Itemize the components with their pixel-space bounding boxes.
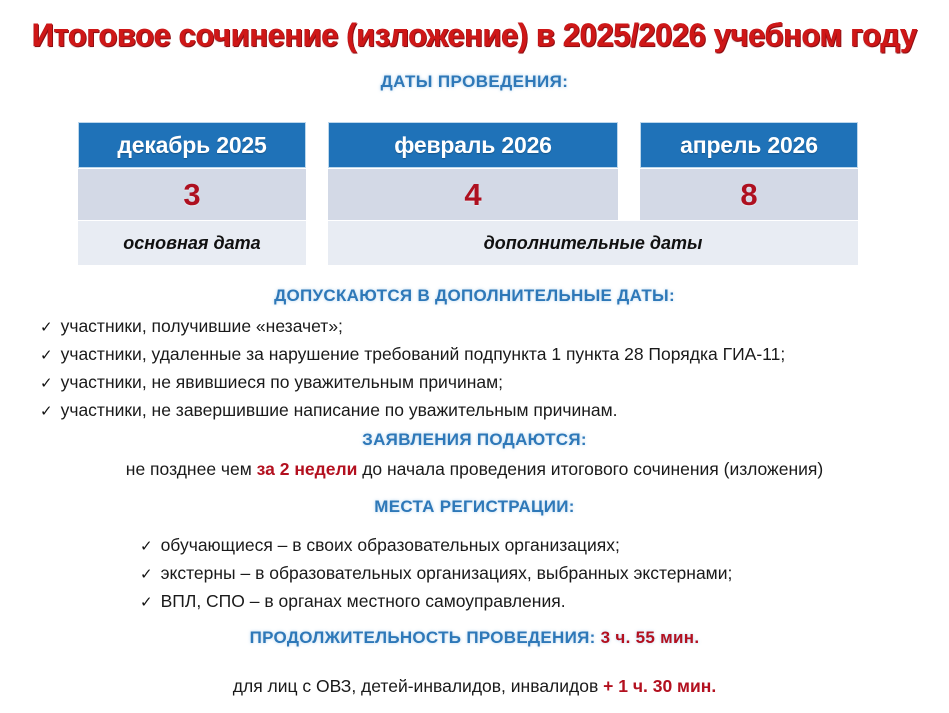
dates-table-label-row: основная дата дополнительные даты [78,221,858,265]
list-item-label: участники, получившие «незачет»; [61,313,343,339]
applications-text-after: до начала проведения итогового сочинения… [357,459,823,479]
list-item: ✓ участники, получившие «незачет»; [40,313,940,341]
applications-accent: за 2 недели [257,459,358,479]
allowed-heading: ДОПУСКАЮТСЯ В ДОПОЛНИТЕЛЬНЫЕ ДАТЫ: [0,286,949,306]
dates-table-day-april: 8 [640,169,858,220]
duration-label: ПРОДОЛЖИТЕЛЬНОСТЬ ПРОВЕДЕНИЯ: [250,628,601,647]
duration-extra-accent: + 1 ч. 30 мин. [603,676,716,696]
list-item: ✓ обучающиеся – в своих образовательных … [140,532,940,560]
list-item: ✓ участники, удаленные за нарушение треб… [40,341,940,369]
check-icon: ✓ [140,590,153,616]
dates-table-label-main: основная дата [78,221,306,265]
check-icon: ✓ [40,371,53,397]
check-icon: ✓ [40,315,53,341]
dates-table-number-row: 3 4 8 [78,169,858,220]
list-item-label: участники, удаленные за нарушение требов… [61,341,786,367]
list-item-label: участники, не завершившие написание по у… [61,397,618,423]
dates-table-header-february: февраль 2026 [328,122,618,168]
duration-extra-label: для лиц с ОВЗ, детей-инвалидов, инвалидо… [233,676,603,696]
dates-heading: ДАТЫ ПРОВЕДЕНИЯ: [0,72,949,92]
applications-text: не позднее чем за 2 недели до начала про… [0,459,949,480]
list-item: ✓ экстерны – в образовательных организац… [140,560,940,588]
check-icon: ✓ [140,534,153,560]
allowed-list: ✓ участники, получившие «незачет»; ✓ уча… [40,313,940,425]
list-item: ✓ ВПЛ, СПО – в органах местного самоупра… [140,588,940,616]
applications-text-before: не позднее чем [126,459,257,479]
dates-table-day-february: 4 [328,169,618,220]
check-icon: ✓ [140,562,153,588]
check-icon: ✓ [40,399,53,425]
places-heading: МЕСТА РЕГИСТРАЦИИ: [0,497,949,517]
duration-value: 3 ч. 55 мин. [601,628,700,647]
dates-table-label-additional: дополнительные даты [328,221,858,265]
list-item: ✓ участники, не завершившие написание по… [40,397,940,425]
title-bar: Итоговое сочинение (изложение) в 2025/20… [0,0,949,54]
dates-table-day-december: 3 [78,169,306,220]
places-list: ✓ обучающиеся – в своих образовательных … [140,532,940,616]
list-item-label: участники, не явившиеся по уважительным … [61,369,503,395]
dates-table: декабрь 2025 февраль 2026 апрель 2026 3 … [78,122,858,266]
dates-table-header-row: декабрь 2025 февраль 2026 апрель 2026 [78,122,858,168]
dates-table-header-december: декабрь 2025 [78,122,306,168]
list-item-label: экстерны – в образовательных организация… [161,560,733,586]
list-item: ✓ участники, не явившиеся по уважительны… [40,369,940,397]
duration-extra-text: для лиц с ОВЗ, детей-инвалидов, инвалидо… [0,676,949,697]
check-icon: ✓ [40,343,53,369]
dates-table-header-april: апрель 2026 [640,122,858,168]
applications-heading: ЗАЯВЛЕНИЯ ПОДАЮТСЯ: [0,430,949,450]
duration-heading: ПРОДОЛЖИТЕЛЬНОСТЬ ПРОВЕДЕНИЯ: 3 ч. 55 ми… [0,628,949,648]
page-title: Итоговое сочинение (изложение) в 2025/20… [19,16,930,54]
list-item-label: обучающиеся – в своих образовательных ор… [161,532,620,558]
list-item-label: ВПЛ, СПО – в органах местного самоуправл… [161,588,566,614]
